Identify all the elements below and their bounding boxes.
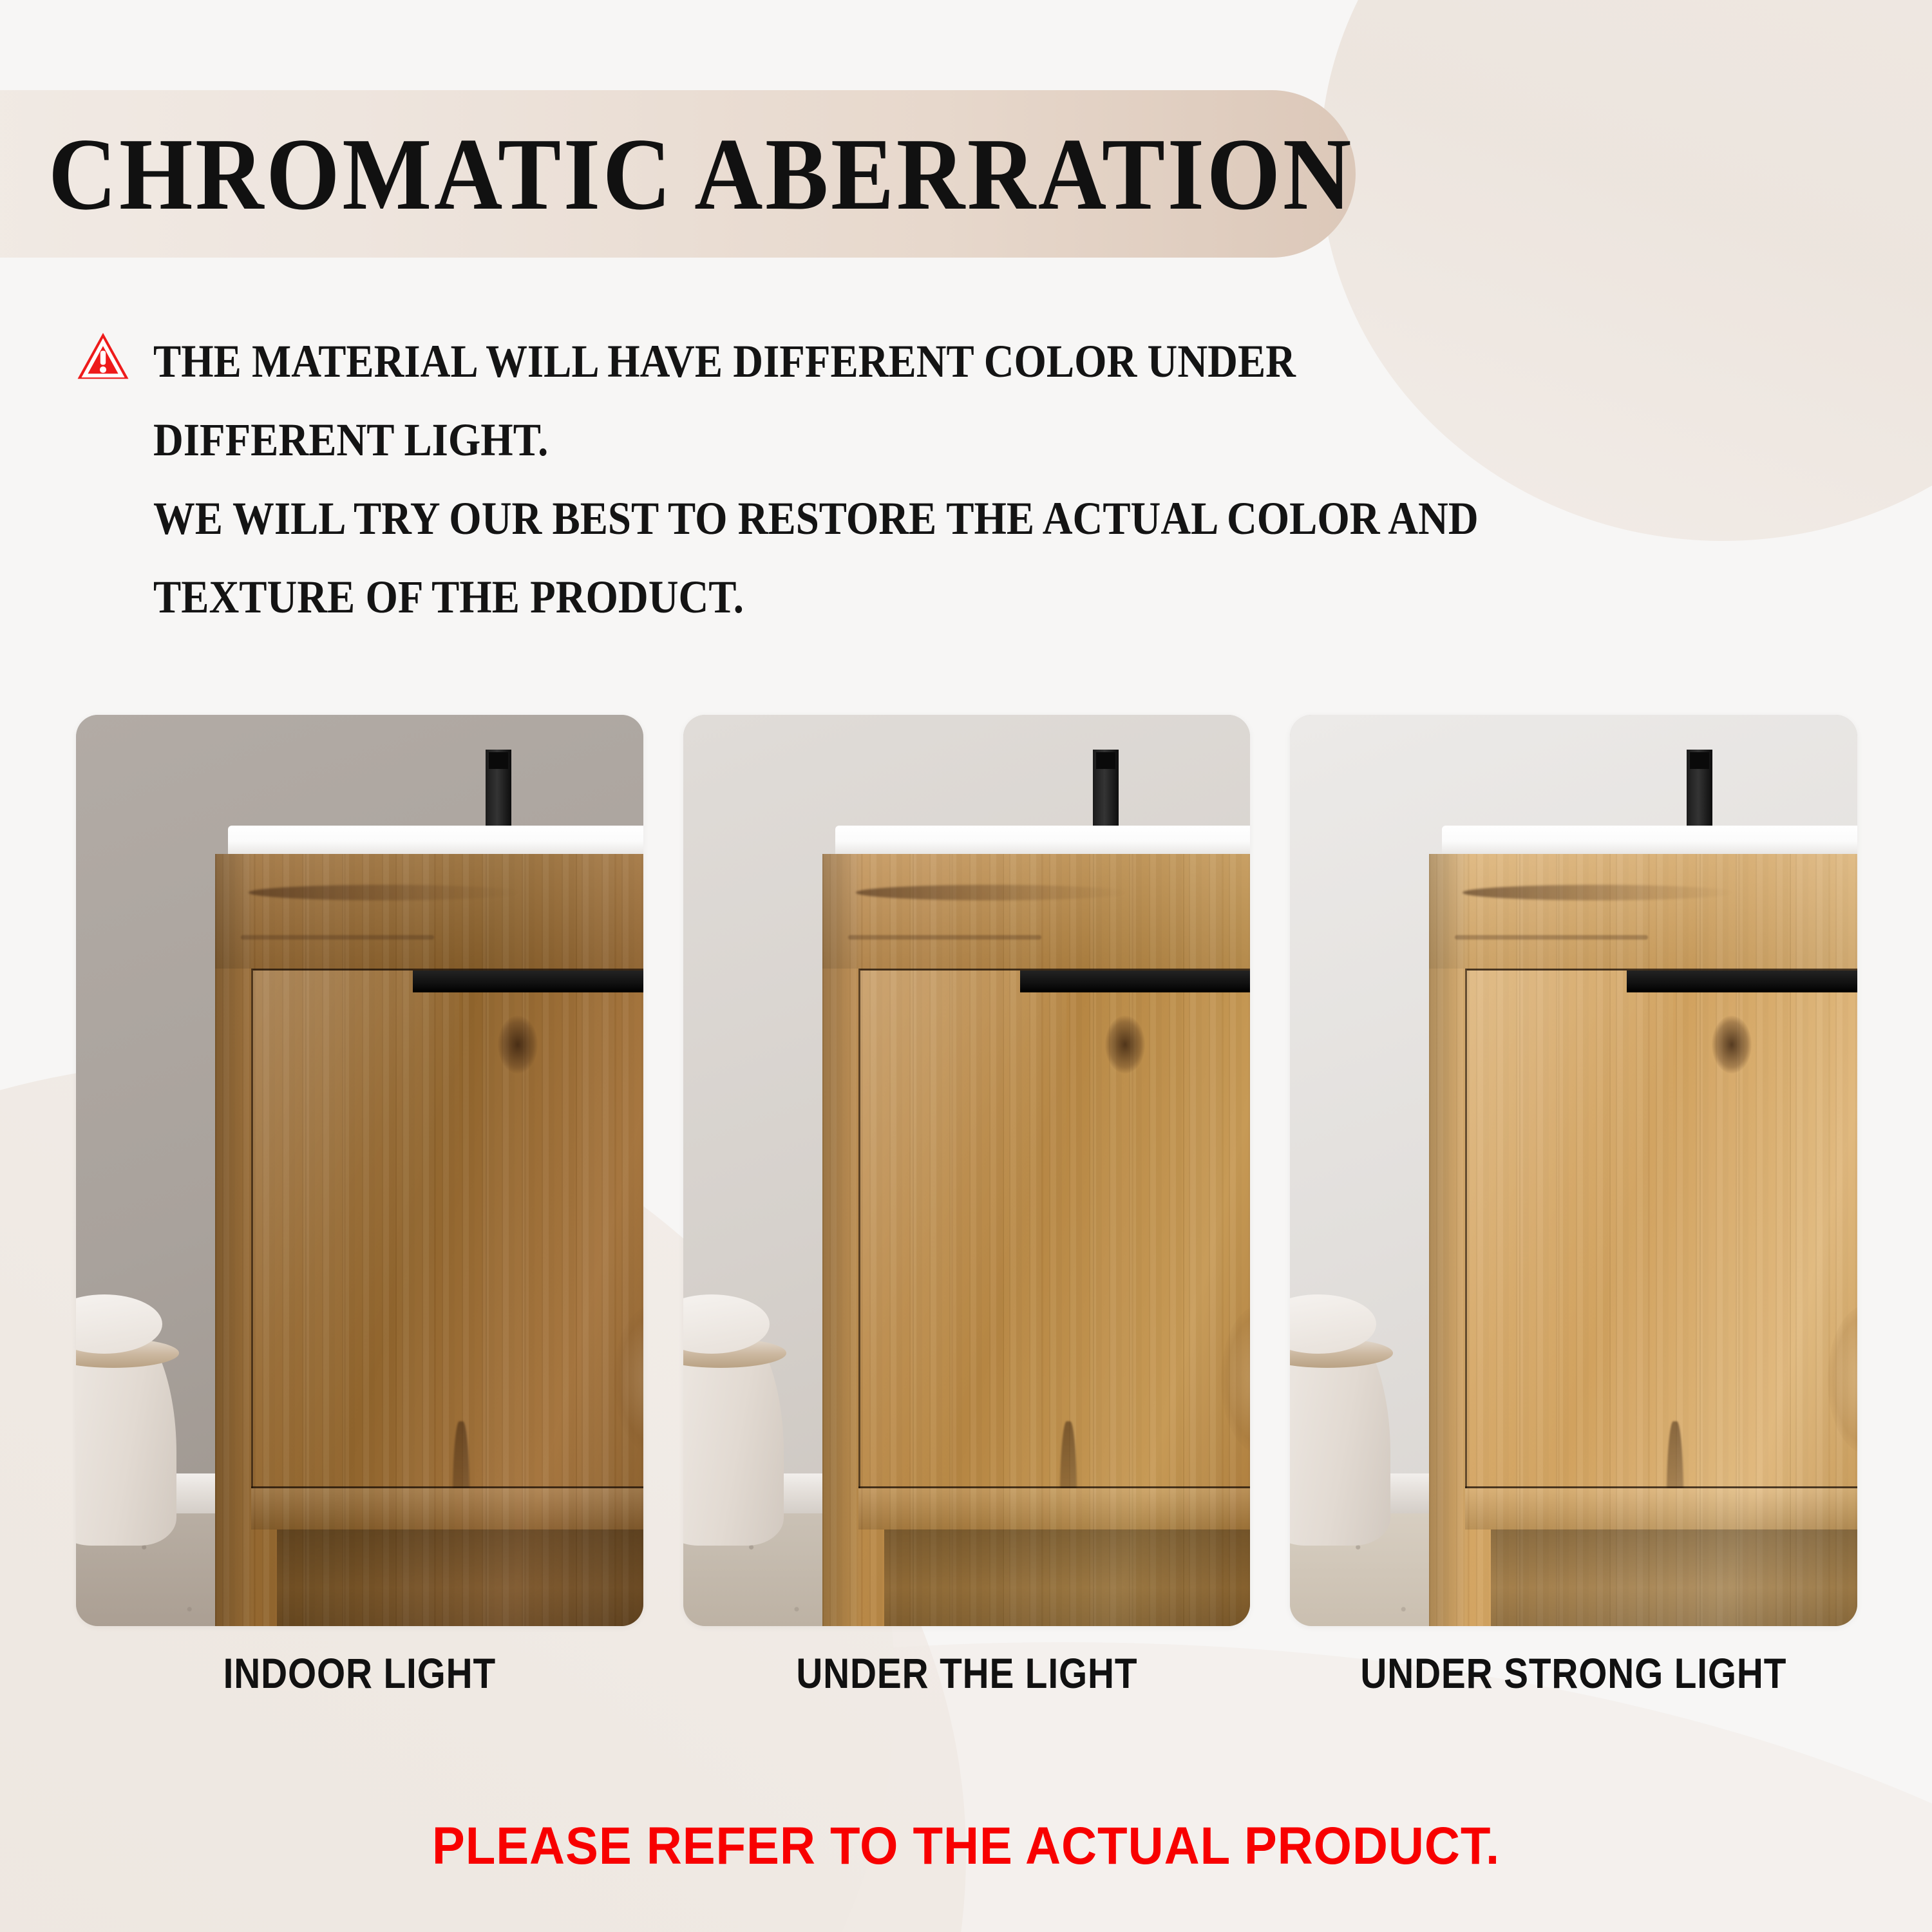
- cabinet-body: [1429, 854, 1857, 1626]
- cabinet-top-rail: [1429, 854, 1857, 969]
- wood-knot-upper: [1105, 1016, 1145, 1074]
- door-handle: [413, 971, 643, 992]
- cabinet-side-stile: [215, 854, 251, 1626]
- faucet-icon: [1093, 750, 1119, 826]
- cabinet-body: [822, 854, 1251, 1626]
- door-highlight: [1467, 971, 1673, 1488]
- wood-knot: [249, 885, 519, 900]
- warning-line-1: THE MATERIAL WILL HAVE DIFFERENT COLOR U…: [153, 322, 1528, 401]
- product-photo-under-strong-light[interactable]: [1290, 715, 1857, 1626]
- footer-disclaimer: PLEASE REFER TO THE ACTUAL PRODUCT.: [68, 1816, 1864, 1877]
- cabinet-doors: [251, 969, 643, 1488]
- door-highlight: [860, 971, 1066, 1488]
- infographic-page: CHROMATIC ABERRATION THE MATERIAL WILL H…: [0, 0, 1932, 1932]
- warning-triangle-icon: [76, 331, 130, 381]
- cabinet-side-stile: [822, 854, 858, 1626]
- caption-under-strong-light: UNDER STRONG LIGHT: [1330, 1649, 1817, 1698]
- caption-indoor-light: INDOOR LIGHT: [116, 1649, 603, 1698]
- vanity-cabinet: [1429, 826, 1857, 1626]
- countertop: [835, 826, 1251, 854]
- wood-grain-line: [241, 935, 434, 940]
- title-banner: CHROMATIC ABERRATION: [0, 90, 1356, 258]
- cabinet-top-rail: [215, 854, 643, 969]
- cabinet-bottom-rail: [858, 1486, 1251, 1529]
- wood-figure: [1221, 1305, 1251, 1454]
- cabinet-body: [215, 854, 643, 1626]
- wood-grain-streak-lower: [1667, 1421, 1683, 1488]
- door-highlight: [253, 971, 459, 1488]
- cabinet-doors: [1465, 969, 1857, 1488]
- cabinet-toe-kick: [884, 1529, 1251, 1626]
- product-photo-indoor-light[interactable]: [76, 715, 643, 1626]
- vanity-cabinet: [215, 826, 643, 1626]
- countertop: [228, 826, 643, 854]
- page-title: CHROMATIC ABERRATION: [48, 122, 1354, 225]
- warning-line-4: TEXTURE OF THE PRODUCT.: [153, 558, 1528, 636]
- warning-line-2: DIFFERENT LIGHT.: [153, 401, 1528, 479]
- faucet-icon: [1687, 750, 1712, 826]
- warning-text-lines: THE MATERIAL WILL HAVE DIFFERENT COLOR U…: [153, 322, 1681, 636]
- wood-grain-line: [1455, 935, 1648, 940]
- cabinet-doors: [858, 969, 1251, 1488]
- cabinet-toe-kick: [277, 1529, 643, 1626]
- wood-knot-upper: [498, 1016, 538, 1074]
- door-handle: [1627, 971, 1857, 992]
- wood-figure: [614, 1305, 643, 1454]
- vanity-cabinet: [822, 826, 1251, 1626]
- cabinet-side-stile: [1429, 854, 1465, 1626]
- wood-knot: [856, 885, 1126, 900]
- wood-grain-line: [848, 935, 1041, 940]
- cabinet-toe-kick: [1491, 1529, 1857, 1626]
- cabinet-bottom-rail: [251, 1486, 643, 1529]
- warning-line-3: WE WILL TRY OUR BEST TO RESTORE THE ACTU…: [153, 479, 1528, 558]
- warning-block: THE MATERIAL WILL HAVE DIFFERENT COLOR U…: [71, 322, 1681, 636]
- cabinet-bottom-rail: [1465, 1486, 1857, 1529]
- wood-knot: [1463, 885, 1733, 900]
- countertop: [1442, 826, 1857, 854]
- panel-captions: INDOOR LIGHT UNDER THE LIGHT UNDER STRON…: [76, 1649, 1857, 1698]
- caption-under-the-light: UNDER THE LIGHT: [723, 1649, 1210, 1698]
- product-photo-under-the-light[interactable]: [683, 715, 1251, 1626]
- faucet-icon: [486, 750, 511, 826]
- comparison-panels: [76, 715, 1857, 1626]
- cabinet-top-rail: [822, 854, 1251, 969]
- wood-knot-upper: [1712, 1016, 1752, 1074]
- wood-figure: [1828, 1305, 1857, 1454]
- door-handle: [1020, 971, 1251, 992]
